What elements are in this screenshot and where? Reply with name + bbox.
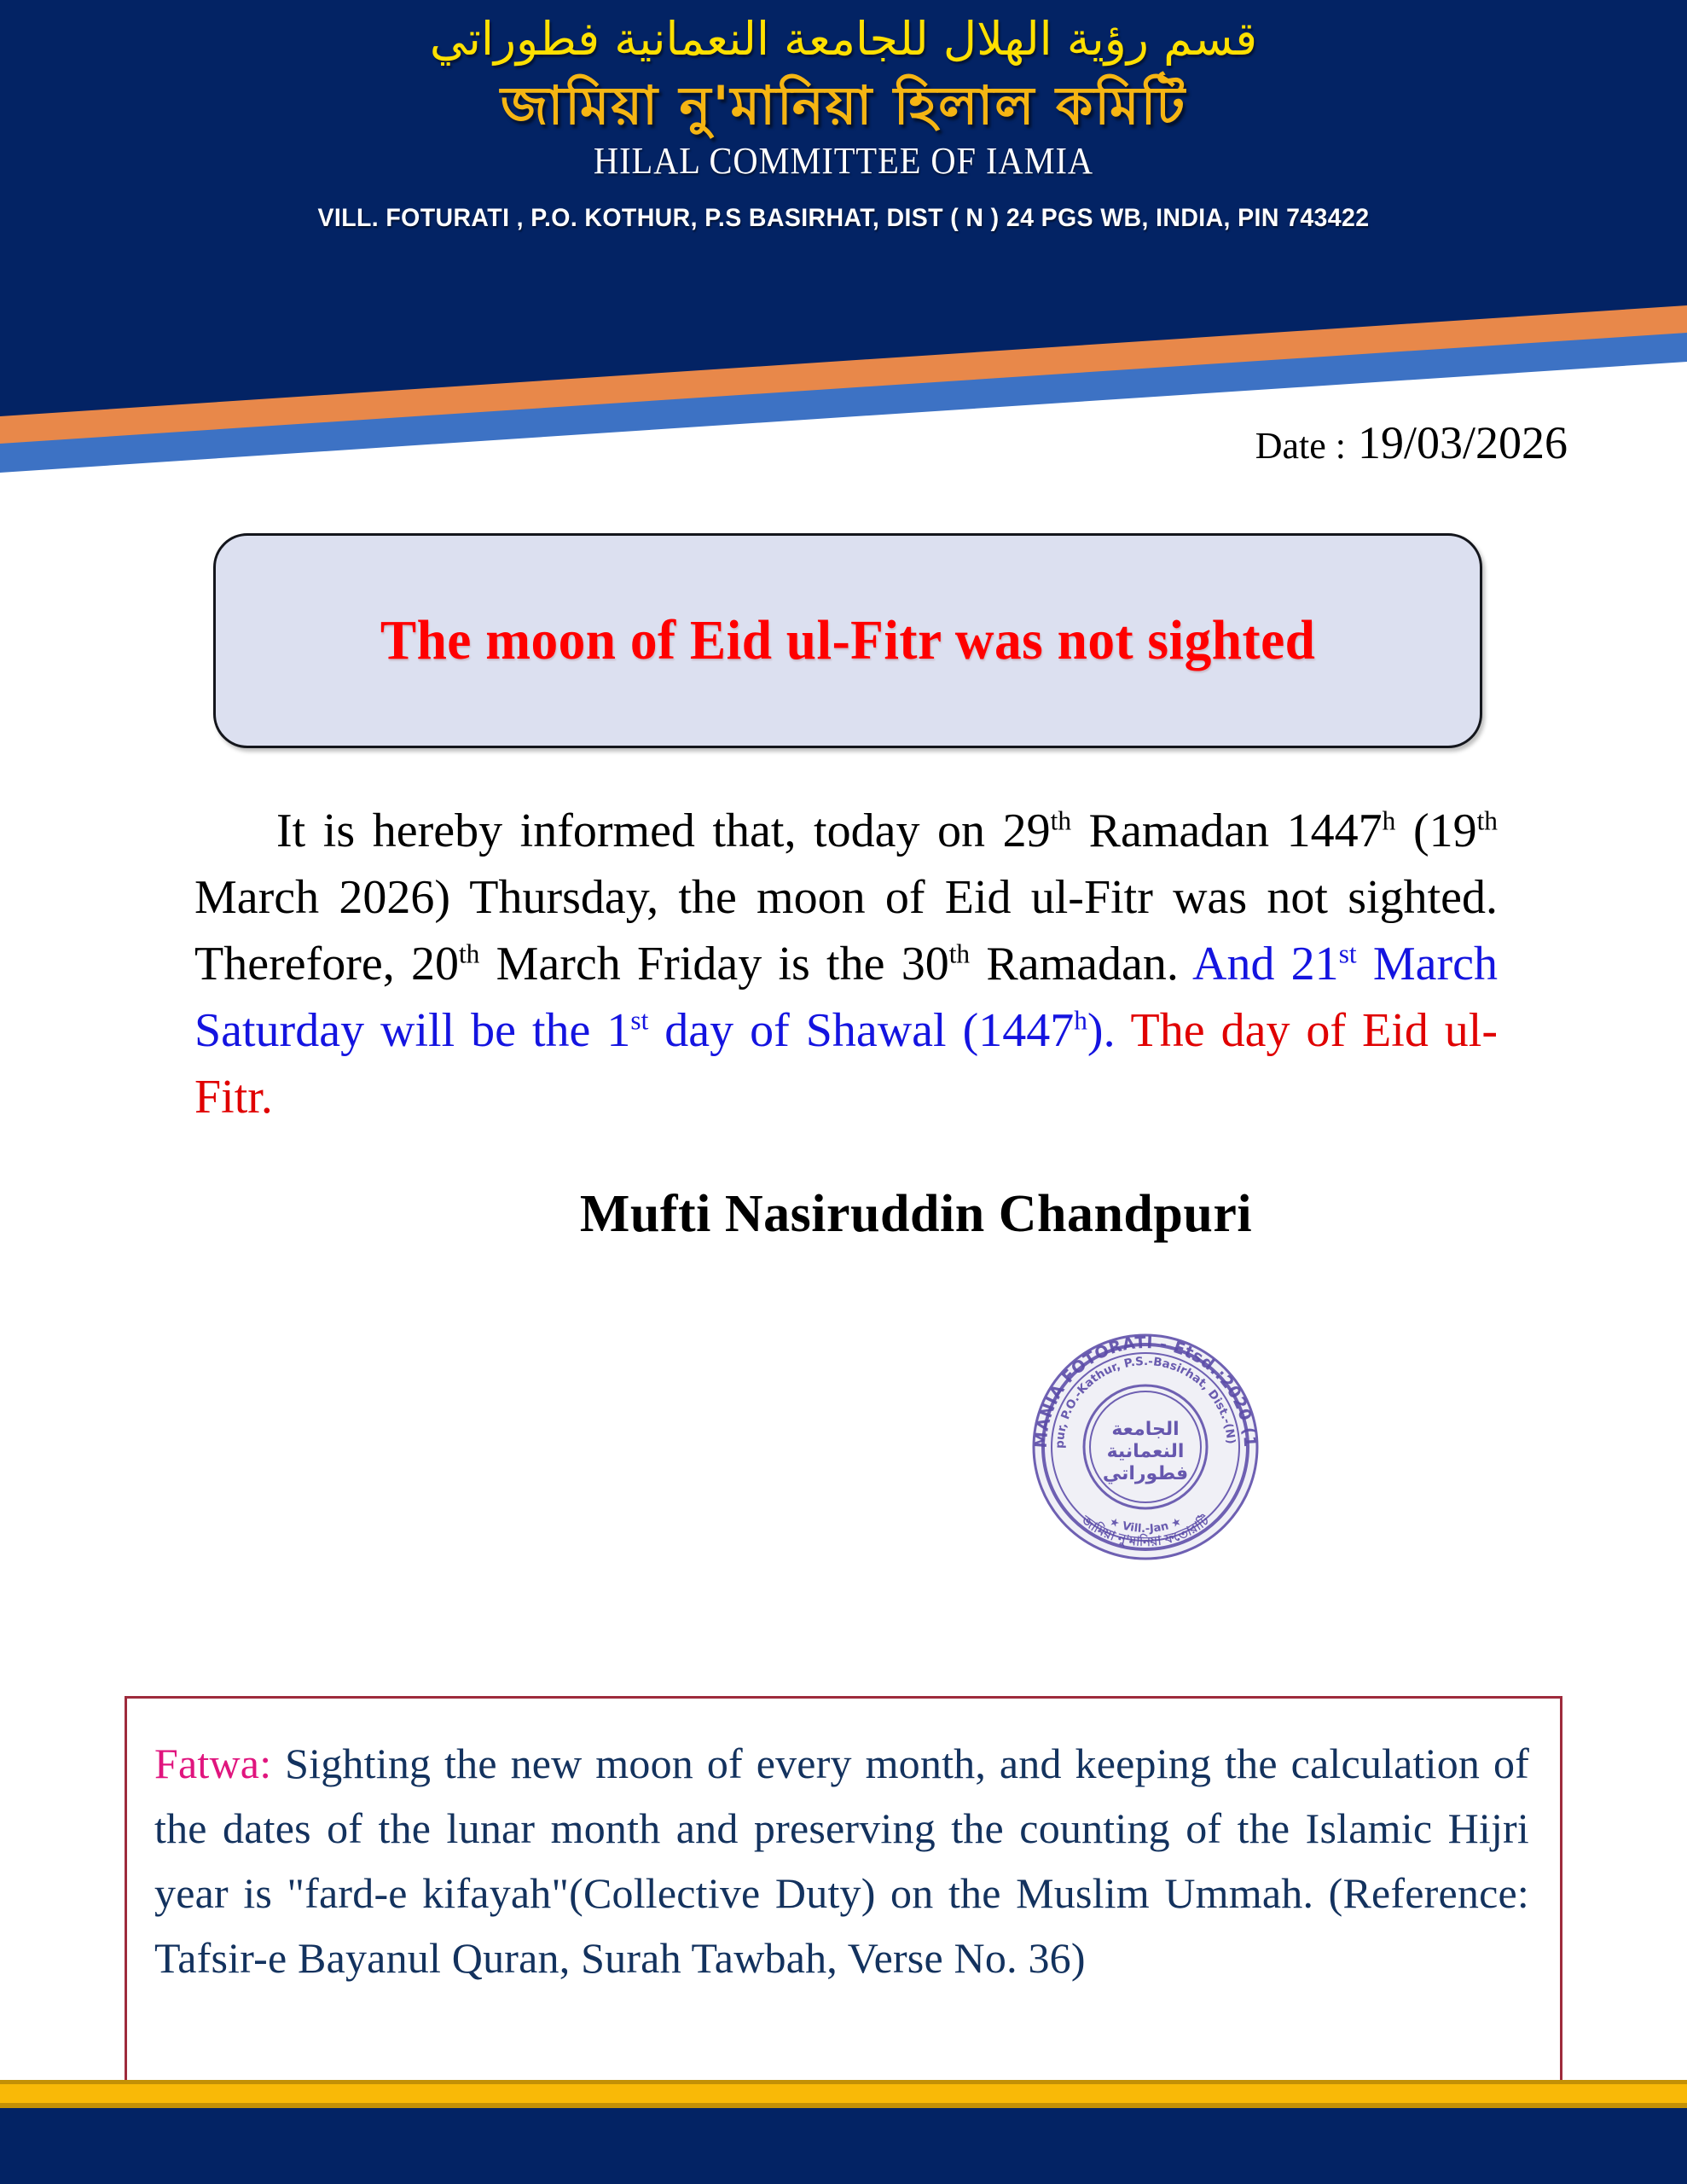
seal-center-arabic-3: فطوراتي [1103, 1463, 1188, 1484]
header-bengali-title: জামিয়া নু'মানিয়া হিলাল কমিটি [0, 75, 1687, 136]
fatwa-text: Fatwa: Sighting the new moon of every mo… [154, 1731, 1529, 1990]
page-footer [0, 2080, 1687, 2184]
seal-icon: JAMIA NUMANIA FOTORATI - Etsd.:2020 (144… [1028, 1329, 1263, 1565]
footer-gold-band [0, 2084, 1687, 2103]
paragraph-segment-11: And 21 [1192, 938, 1339, 990]
paragraph-segment-4: (19 [1395, 804, 1476, 857]
announcement-headline: The moon of Eid ul-Fitr was not sighted [380, 608, 1316, 673]
paragraph-segment-3: h [1383, 805, 1396, 835]
seal-center-arabic-2: النعمانية [1107, 1441, 1185, 1462]
notice-page: قسم رؤية الهلال للجامعة النعمانية فطورات… [0, 0, 1687, 2184]
paragraph-segment-14: st [630, 1005, 648, 1035]
paragraph-segment-12: st [1339, 938, 1357, 968]
paragraph-text: It is hereby informed that, today on 29t… [194, 804, 1498, 1124]
footer-navy-band [0, 2108, 1687, 2184]
fatwa-box: Fatwa: Sighting the new moon of every mo… [125, 1696, 1562, 2085]
announcement-body-paragraph: It is hereby informed that, today on 29t… [194, 798, 1498, 1130]
paragraph-segment-15: day of Shawal (1447 [648, 1004, 1074, 1057]
header-address-line: VILL. FOTURATI , P.O. KOTHUR, P.S BASIRH… [42, 204, 1644, 232]
announcement-box: The moon of Eid ul-Fitr was not sighted [213, 533, 1482, 748]
paragraph-segment-2: Ramadan 1447 [1071, 804, 1383, 857]
official-seal-stamp: JAMIA NUMANIA FOTORATI - Etsd.:2020 (144… [1028, 1329, 1263, 1565]
paragraph-segment-5: th [1477, 805, 1498, 835]
date-row: Date : 19/03/2026 [0, 416, 1687, 469]
header-english-title: HILAL COMMITTEE OF IAMIA [67, 141, 1620, 182]
date-label: Date : [1255, 425, 1346, 467]
date-value: 19/03/2026 [1358, 417, 1568, 468]
paragraph-segment-10: Ramadan. [970, 938, 1192, 990]
paragraph-segment-1: th [1051, 805, 1071, 835]
paragraph-segment-0: It is hereby informed that, today on 29 [276, 804, 1051, 857]
paragraph-segment-9: th [949, 938, 970, 968]
fatwa-label: Fatwa: [154, 1740, 271, 1787]
paragraph-segment-7: th [459, 938, 479, 968]
fatwa-body: Sighting the new moon of every month, an… [154, 1740, 1529, 1982]
header-text-block: قسم رؤية الهلال للجامعة النعمانية فطورات… [0, 0, 1687, 232]
seal-center-arabic-1: الجامعة [1111, 1419, 1179, 1440]
paragraph-segment-17: ). [1087, 1004, 1131, 1057]
paragraph-segment-8: March Friday is the 30 [479, 938, 948, 990]
signatory-name: Mufti Nasiruddin Chandpuri [0, 1184, 1687, 1245]
header-arabic-title: قسم رؤية الهلال للجامعة النعمانية فطورات… [0, 12, 1687, 67]
paragraph-segment-16: h [1074, 1005, 1087, 1035]
